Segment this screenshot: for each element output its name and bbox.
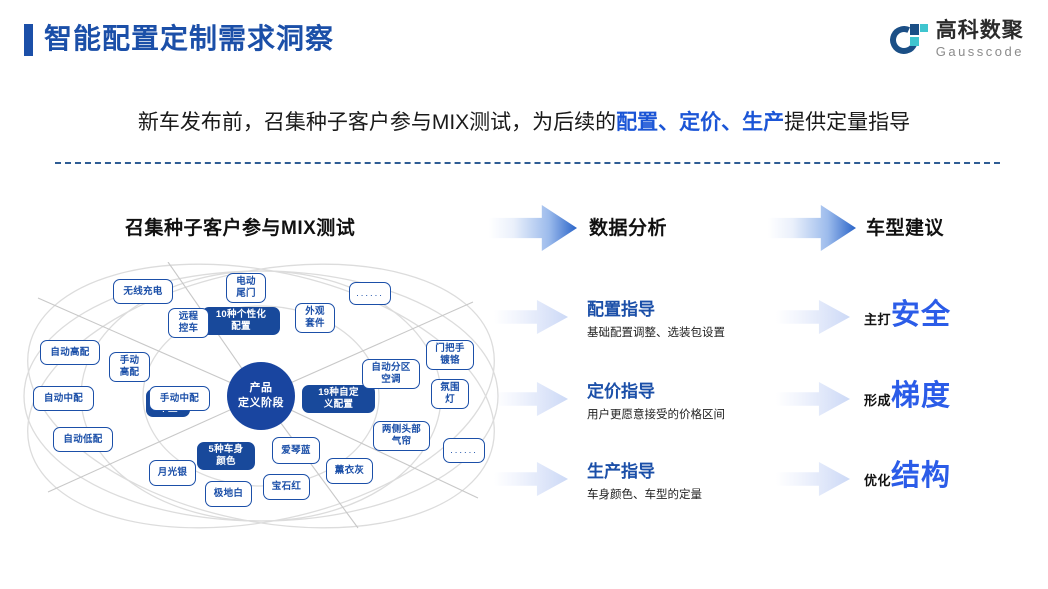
- analysis-title-3: 生产指导: [587, 460, 777, 483]
- leaf-19-text: 宝石红: [272, 481, 301, 493]
- analysis-row-2: 定价指导 用户更愿意接受的价格区间: [587, 380, 777, 424]
- leaf-2-line-2: 尾门: [236, 288, 256, 299]
- mindmap-hub-personalized[interactable]: 10种个性化配置: [202, 307, 280, 335]
- mindmap-leaf-manual-mid-trim[interactable]: 手动中配: [149, 386, 210, 411]
- hub-1-line-2: 配置: [231, 321, 251, 332]
- row-arrow-icon-3b: [776, 462, 850, 496]
- leaf-17-text: 月光银: [158, 467, 187, 479]
- leaf-10-text: ......: [450, 445, 478, 457]
- leaf-3-text: ......: [356, 288, 384, 300]
- mindmap-hub-colors[interactable]: 5种车身颜色: [197, 442, 255, 470]
- suggestion-prefix-2: 形成: [864, 390, 891, 409]
- mindmap-hub-custom[interactable]: 19种自定义配置: [302, 385, 375, 413]
- page-title: 智能配置定制需求洞察: [44, 21, 334, 57]
- leaf-8-line-2: 灯: [445, 394, 455, 405]
- leaf-13-text: 自动中配: [44, 393, 83, 405]
- row-arrow-icon-2a: [494, 382, 568, 416]
- logo-name-en: Gausscode: [936, 45, 1024, 58]
- brand-logo: 高科数聚 Gausscode: [890, 20, 1024, 58]
- suggestion-row-3: 优化 结构: [864, 461, 951, 491]
- row-arrow-icon-3a: [494, 462, 568, 496]
- hub-2-line-2: 义配置: [324, 399, 353, 410]
- analysis-row-1: 配置指导 基础配置调整、选装包设置: [587, 298, 777, 342]
- mindmap-leaf-moonlight-silver[interactable]: 月光银: [149, 460, 196, 486]
- leaf-11-text: 自动高配: [50, 347, 89, 359]
- mindmap-leaf-side-curtain-airbag[interactable]: 两侧头部气帘: [373, 421, 430, 451]
- analysis-desc-1: 基础配置调整、选装包设置: [587, 324, 777, 342]
- leaf-20-text: 薰衣灰: [335, 465, 364, 477]
- mindmap-leaf-dual-zone-ac[interactable]: 自动分区空调: [362, 359, 420, 389]
- subtitle-part2: 提供定量指导: [784, 111, 910, 134]
- leaf-9-line-2: 气帘: [392, 436, 412, 447]
- leaf-12-line-2: 高配: [120, 367, 140, 378]
- logo-name-cn: 高科数聚: [936, 20, 1024, 41]
- leaf-18-text: 极地白: [214, 488, 243, 500]
- flow-arrow-icon-2: [768, 205, 856, 251]
- leaf-16-text: 爱琴蓝: [281, 445, 310, 457]
- subtitle-part1: 新车发布前，召集种子客户参与MIX测试，为后续的: [138, 111, 616, 134]
- leaf-6-line-2: 镀铬: [440, 355, 460, 366]
- center-line-1: 产品: [250, 382, 273, 394]
- leaf-14-text: 手动中配: [160, 393, 199, 405]
- title-accent-bar: [24, 24, 33, 56]
- suggestion-row-2: 形成 梯度: [864, 381, 951, 411]
- mindmap-diagram: 产品定义阶段 10种个性化配置 19种自定义配置 5款车型 5种车身颜色 无线充…: [18, 262, 503, 530]
- mindmap-leaf-ellipsis-top[interactable]: ......: [349, 282, 391, 305]
- leaf-12-line-1: 手动: [120, 355, 140, 366]
- suggestion-row-1: 主打 安全: [864, 300, 951, 330]
- mindmap-leaf-door-handle-chrome[interactable]: 门把手镀铬: [426, 340, 474, 370]
- subtitle: 新车发布前，召集种子客户参与MIX测试，为后续的配置、定价、生产提供定量指导: [0, 108, 1048, 138]
- suggestion-keyword-1: 安全: [891, 300, 951, 330]
- mindmap-leaf-auto-high-trim[interactable]: 自动高配: [40, 340, 100, 365]
- mindmap-leaf-auto-low-trim[interactable]: 自动低配: [53, 427, 113, 452]
- analysis-title-1: 配置指导: [587, 298, 777, 321]
- suggestion-prefix-1: 主打: [864, 309, 891, 328]
- mindmap-leaf-remote-control[interactable]: 远程控车: [168, 308, 209, 338]
- leaf-9-line-1: 两侧头部: [382, 424, 421, 435]
- leaf-4-line-1: 远程: [179, 311, 199, 322]
- leaf-1-text: 无线充电: [123, 286, 162, 298]
- row-arrow-icon-2b: [776, 382, 850, 416]
- analysis-desc-2: 用户更愿意接受的价格区间: [587, 406, 777, 424]
- mindmap-leaf-auto-mid-trim[interactable]: 自动中配: [33, 386, 94, 411]
- mindmap-leaf-aegean-blue[interactable]: 爱琴蓝: [272, 437, 320, 464]
- mindmap-leaf-ambient-light[interactable]: 氛围灯: [431, 379, 469, 409]
- hub-4-line-2: 颜色: [216, 456, 236, 467]
- analysis-title-2: 定价指导: [587, 380, 777, 403]
- row-arrow-icon-1a: [494, 300, 568, 334]
- leaf-15-text: 自动低配: [63, 434, 102, 446]
- mindmap-leaf-ellipsis-right[interactable]: ......: [443, 438, 485, 463]
- mindmap-leaf-ruby-red[interactable]: 宝石红: [263, 474, 310, 500]
- flow-arrow-icon-1: [489, 205, 577, 251]
- mindmap-leaf-polar-white[interactable]: 极地白: [205, 481, 252, 507]
- leaf-7-line-2: 空调: [381, 374, 401, 385]
- mindmap-leaf-power-tailgate[interactable]: 电动尾门: [226, 273, 266, 303]
- column-heading-right: 车型建议: [866, 213, 944, 240]
- leaf-4-line-2: 控车: [179, 323, 199, 334]
- analysis-desc-3: 车身颜色、车型的定量: [587, 486, 777, 504]
- mindmap-leaf-manual-high-trim[interactable]: 手动高配: [109, 352, 150, 382]
- hub-2-line-1: 19种自定: [318, 387, 359, 398]
- slide-root: 智能配置定制需求洞察 高科数聚 Gausscode 新车发布前，召集种子客户参与…: [0, 0, 1048, 589]
- center-line-2: 定义阶段: [238, 397, 284, 409]
- row-arrow-icon-1b: [776, 300, 850, 334]
- mindmap-leaf-lavender-grey[interactable]: 薰衣灰: [326, 458, 373, 484]
- hub-4-line-1: 5种车身: [209, 444, 244, 455]
- leaf-5-line-2: 套件: [305, 318, 325, 329]
- mindmap-center-node[interactable]: 产品定义阶段: [227, 362, 295, 430]
- column-heading-middle: 数据分析: [589, 213, 667, 240]
- mindmap-leaf-exterior-kit[interactable]: 外观套件: [295, 303, 335, 333]
- suggestion-prefix-3: 优化: [864, 470, 891, 489]
- leaf-8-line-1: 氛围: [440, 382, 460, 393]
- column-heading-left: 召集种子客户参与MIX测试: [125, 213, 355, 240]
- leaf-7-line-1: 自动分区: [371, 362, 410, 373]
- suggestion-keyword-3: 结构: [891, 461, 951, 491]
- leaf-2-line-1: 电动: [236, 276, 256, 287]
- leaf-6-line-1: 门把手: [435, 343, 464, 354]
- leaf-5-line-1: 外观: [305, 306, 325, 317]
- section-divider: [55, 162, 1000, 164]
- gausscode-logo-icon: [890, 20, 928, 58]
- subtitle-highlight: 配置、定价、生产: [616, 111, 784, 134]
- hub-1-line-1: 10种个性化: [216, 309, 266, 320]
- suggestion-keyword-2: 梯度: [891, 381, 951, 411]
- analysis-row-3: 生产指导 车身颜色、车型的定量: [587, 460, 777, 504]
- mindmap-leaf-wireless-charging[interactable]: 无线充电: [113, 279, 173, 304]
